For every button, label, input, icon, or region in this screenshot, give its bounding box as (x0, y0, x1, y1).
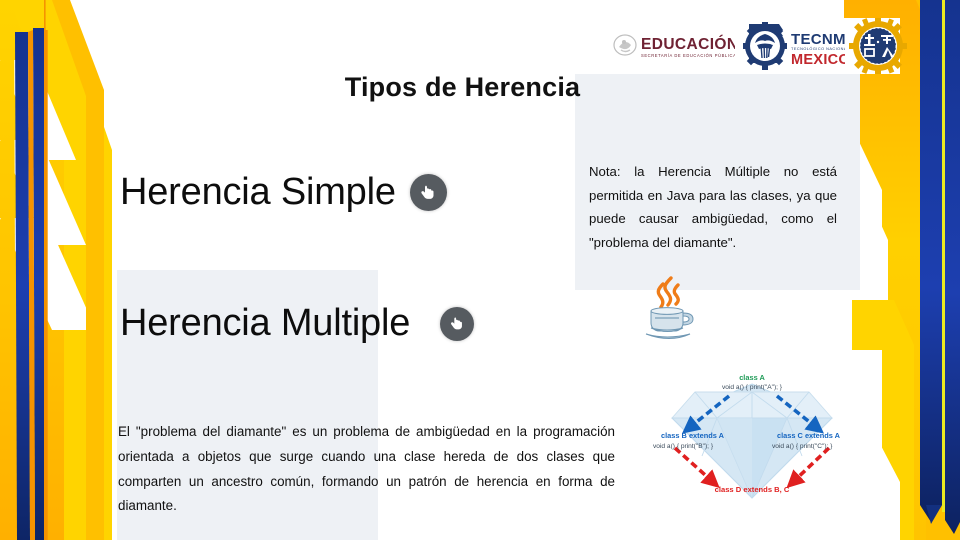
section-herencia-multiple[interactable]: Herencia Multiple (120, 303, 474, 345)
edge-c-to-d (793, 448, 829, 482)
institute-gear-logo (849, 18, 907, 74)
heading-herencia-multiple-label: Herencia Multiple (120, 303, 410, 345)
node-d-label: class D extends B, C (715, 485, 790, 494)
header-logo-bar: EDUCACIÓN SECRETARÍA DE EDUCACIÓN PÚBLIC… (575, 18, 900, 74)
tecnm-logo-subtitle: TECNOLÓGICO NACIONAL DE (791, 46, 845, 51)
educacion-logo: EDUCACIÓN SECRETARÍA DE EDUCACIÓN PÚBLIC… (611, 29, 735, 63)
tecnm-logo: TECNM TECNOLÓGICO NACIONAL DE MEXICO (741, 20, 845, 72)
educacion-logo-subtitle: SECRETARÍA DE EDUCACIÓN PÚBLICA (641, 53, 735, 58)
node-b-label: class B extends A (661, 431, 725, 440)
node-b-code: void a() { print("B"); } (653, 443, 714, 450)
diamond-problem-paragraph: El "problema del diamante" es un problem… (118, 420, 615, 519)
node-a-label: class A (739, 373, 765, 382)
tecnm-logo-mexico: MEXICO (791, 52, 845, 68)
tap-hand-icon[interactable] (410, 174, 447, 211)
educacion-logo-text: EDUCACIÓN (641, 35, 735, 53)
java-coffee-cup-logo (633, 272, 707, 344)
heading-herencia-simple-label: Herencia Simple (120, 172, 396, 214)
diamond-problem-diagram: class A void a() { print("A"); } class B… (617, 366, 887, 511)
page-title: Tipos de Herencia (0, 72, 925, 103)
tap-hand-icon[interactable] (440, 307, 474, 341)
note-text: Nota: la Herencia Múltiple no está permi… (589, 160, 837, 254)
node-a-code: void a() { print("A"); } (722, 384, 783, 391)
node-c-label: class C extends A (777, 431, 841, 440)
section-herencia-simple[interactable]: Herencia Simple (120, 172, 447, 214)
tecnm-logo-text: TECNM (791, 31, 845, 48)
node-c-code: void a() { print("C"); } (772, 443, 833, 450)
slide-canvas: EDUCACIÓN SECRETARÍA DE EDUCACIÓN PÚBLIC… (0, 0, 960, 540)
